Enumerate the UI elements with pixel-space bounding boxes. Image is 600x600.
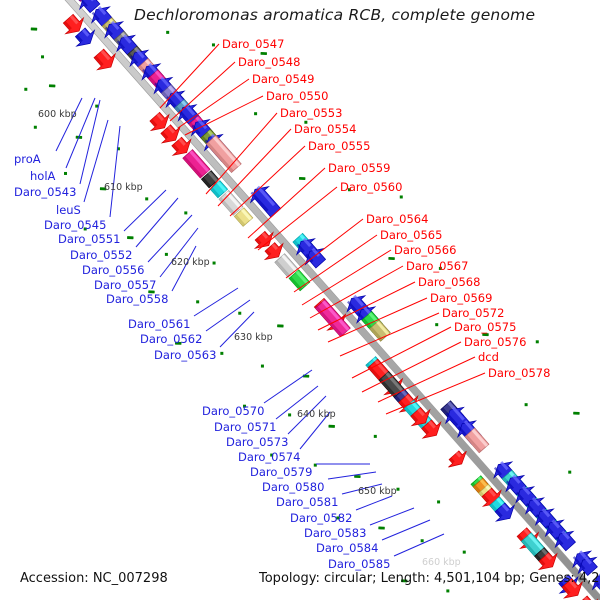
gene-label-daro_0571[interactable]: Daro_0571 [214,422,276,434]
gene-label-daro_0543[interactable]: Daro_0543 [14,187,76,199]
genome-summary-text: Topology: circular; Length: 4,501,104 bp… [259,572,600,585]
label-leader-line [172,246,196,291]
scale-tick-640-kbp: 640 kbp [297,410,336,420]
gene-label-daro_0547[interactable]: Daro_0547 [222,39,284,51]
gene-label-daro_0558[interactable]: Daro_0558 [106,294,168,306]
gene-label-daro_0582[interactable]: Daro_0582 [290,513,352,525]
gene-glyph[interactable] [150,112,169,130]
gene-label-daro_0545[interactable]: Daro_0545 [44,220,106,232]
label-leader-line [160,44,219,108]
gene-label-daro_0559[interactable]: Daro_0559 [328,163,390,175]
gene-label-daro_0566[interactable]: Daro_0566 [394,245,456,257]
gene-label-daro_0557[interactable]: Daro_0557 [94,280,156,292]
gene-label-daro_0564[interactable]: Daro_0564 [366,214,428,226]
gene-label-hola[interactable]: holA [30,171,55,183]
gene-label-daro_0574[interactable]: Daro_0574 [238,452,300,464]
label-leader-line [170,62,235,121]
genome-map-viewer: Dechloromonas aromatica RCB, complete ge… [0,0,600,600]
gene-label-daro_0551[interactable]: Daro_0551 [58,234,120,246]
gene-label-daro_0565[interactable]: Daro_0565 [380,230,442,242]
scale-tick-620-kbp: 620 kbp [171,258,210,268]
label-leader-line [394,534,444,556]
scale-tick-630-kbp: 630 kbp [234,333,273,343]
gene-label-daro_0578[interactable]: Daro_0578 [488,368,550,380]
page-title: Dechloromonas aromatica RCB, complete ge… [134,8,535,24]
scale-tick-600-kbp: 600 kbp [38,110,77,120]
gene-label-daro_0550[interactable]: Daro_0550 [266,91,328,103]
scale-tick-660-kbp: 660 kbp [422,558,461,568]
gene-label-daro_0573[interactable]: Daro_0573 [226,437,288,449]
gene-label-daro_0561[interactable]: Daro_0561 [128,319,190,331]
gene-label-daro_0585[interactable]: Daro_0585 [328,559,390,571]
gene-label-daro_0576[interactable]: Daro_0576 [464,337,526,349]
label-leader-line [370,508,414,525]
gene-label-daro_0579[interactable]: Daro_0579 [250,467,312,479]
gene-label-daro_0583[interactable]: Daro_0583 [304,528,366,540]
label-leader-line [382,520,430,540]
gene-label-dcd[interactable]: dcd [478,352,499,364]
label-leader-line [80,100,100,184]
gene-label-proa[interactable]: proA [14,154,41,166]
label-leader-line [148,215,192,262]
label-leader-line [194,288,238,316]
gene-label-daro_0570[interactable]: Daro_0570 [202,406,264,418]
accession-text: Accession: NC_007298 [20,572,168,585]
gene-label-daro_0549[interactable]: Daro_0549 [252,74,314,86]
gene-label-daro_0562[interactable]: Daro_0562 [140,334,202,346]
gene-label-daro_0569[interactable]: Daro_0569 [430,293,492,305]
scale-tick-650-kbp: 650 kbp [358,487,397,497]
gene-label-daro_0580[interactable]: Daro_0580 [262,482,324,494]
label-leader-line [110,126,120,217]
gene-label-daro_0553[interactable]: Daro_0553 [280,108,342,120]
label-leader-line [124,190,166,231]
gene-label-daro_0560[interactable]: Daro_0560 [340,182,402,194]
gene-label-daro_0572[interactable]: Daro_0572 [442,308,504,320]
label-leader-line [264,370,312,403]
gene-label-daro_0552[interactable]: Daro_0552 [70,250,132,262]
gene-label-daro_0584[interactable]: Daro_0584 [316,543,378,555]
scale-tick-610-kbp: 610 kbp [104,183,143,193]
gene-label-daro_0556[interactable]: Daro_0556 [82,265,144,277]
gene-label-daro_0575[interactable]: Daro_0575 [454,322,516,334]
label-leader-line [328,472,376,479]
gene-label-daro_0548[interactable]: Daro_0548 [238,57,300,69]
label-leader-line [356,496,392,510]
gene-label-daro_0563[interactable]: Daro_0563 [154,350,216,362]
gene-glyph[interactable] [206,135,241,172]
gene-label-leus[interactable]: leuS [56,205,81,217]
gene-label-daro_0554[interactable]: Daro_0554 [294,124,356,136]
label-leader-line [56,98,82,151]
label-leader-line [286,219,363,278]
gene-label-daro_0555[interactable]: Daro_0555 [308,141,370,153]
gene-glyph[interactable] [448,451,466,467]
gene-label-daro_0567[interactable]: Daro_0567 [406,261,468,273]
label-leader-line [136,198,178,247]
gene-label-daro_0581[interactable]: Daro_0581 [276,497,338,509]
gene-label-daro_0568[interactable]: Daro_0568 [418,277,480,289]
